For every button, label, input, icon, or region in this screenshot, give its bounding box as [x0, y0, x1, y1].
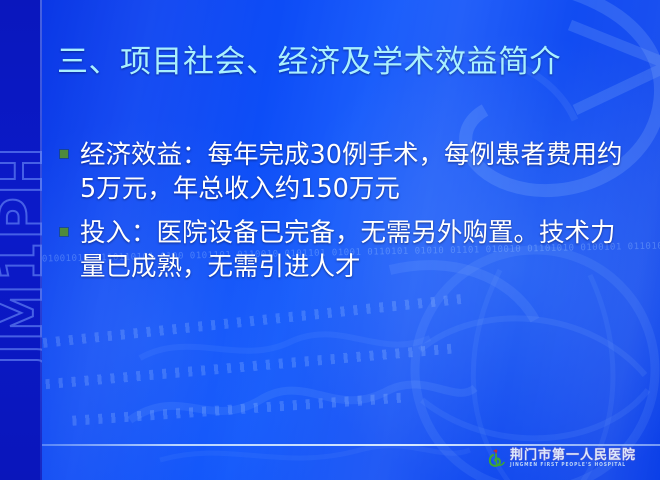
- bullet-text: 经济效益：每年完成30例手术，每例患者费用约5万元，年总收入约150万元: [80, 140, 622, 204]
- slide-sidebar: JM1PH: [0, 0, 42, 480]
- bullet-item-investment: 投入：医院设备已完备，无需另外购置。技术力量已成熟，无需引进人才: [57, 216, 627, 284]
- hospital-logo: 荆门市第一人民医院 JINGMEN FIRST PEOPLE'S HOSPITA…: [486, 449, 636, 469]
- hospital-name-en: JINGMEN FIRST PEOPLE'S HOSPITAL: [510, 464, 636, 469]
- bullet-marker-icon: [60, 228, 68, 236]
- sidebar-watermark: JM1PH: [0, 145, 42, 366]
- presentation-slide: 01001010 0110110101 0100 0101101 0110010…: [0, 0, 660, 480]
- hospital-logo-icon: [486, 449, 506, 469]
- hospital-name-cn: 荆门市第一人民医院: [510, 449, 636, 462]
- bullet-marker-icon: [60, 150, 68, 158]
- bullet-text: 投入：医院设备已完备，无需另外购置。技术力量已成熟，无需引进人才: [80, 218, 616, 282]
- slide-title: 三、项目社会、经济及学术效益简介: [57, 42, 617, 83]
- hospital-logo-text: 荆门市第一人民医院 JINGMEN FIRST PEOPLE'S HOSPITA…: [510, 449, 636, 468]
- bullet-list: 经济效益：每年完成30例手术，每例患者费用约5万元，年总收入约150万元 投入：…: [57, 138, 627, 295]
- sidebar-edge-highlight: [40, 0, 42, 480]
- footer-divider: [42, 444, 660, 446]
- bullet-item-economic: 经济效益：每年完成30例手术，每例患者费用约5万元，年总收入约150万元: [57, 138, 627, 206]
- filmstrip-decoration: [42, 300, 462, 430]
